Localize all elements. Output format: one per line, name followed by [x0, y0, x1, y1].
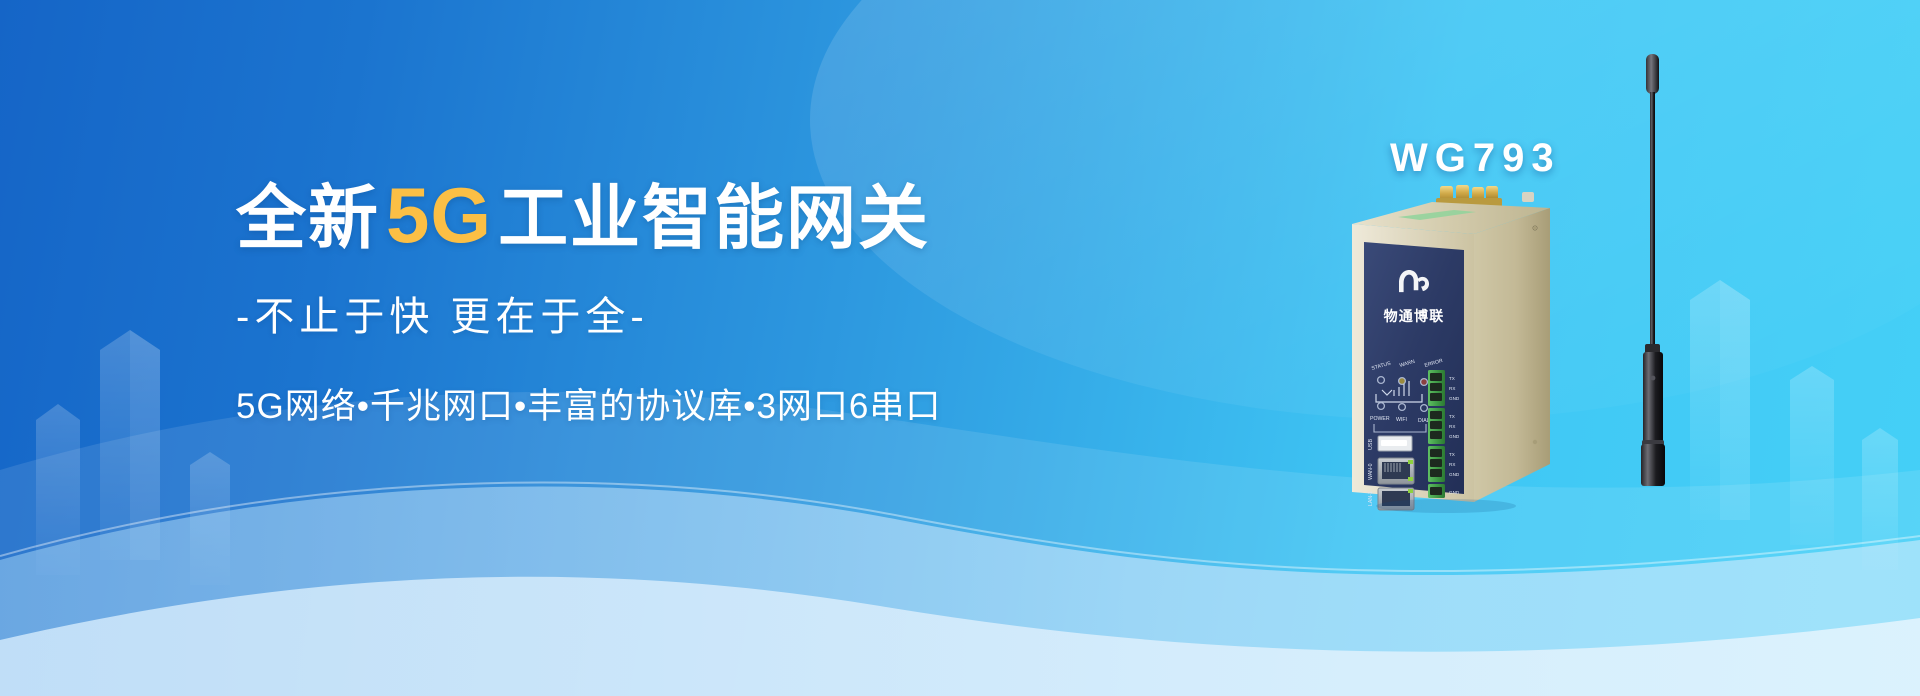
device-shadow — [1376, 499, 1516, 513]
led-label-power: POWER — [1370, 416, 1390, 422]
antenna-base-upper — [1643, 352, 1663, 444]
product-banner: 全新5G工业智能网关 -不止于快 更在于全- 5G网络•千兆网口•丰富的协议库•… — [0, 0, 1920, 696]
antenna-rod — [1650, 92, 1655, 350]
antenna-image — [1590, 48, 1730, 488]
svg-text:RX: RX — [1449, 424, 1455, 429]
wan0-led — [1408, 460, 1413, 464]
terminal-blocks — [1428, 370, 1445, 498]
tagline: -不止于快 更在于全- — [236, 284, 1066, 342]
svg-text:GND: GND — [1449, 472, 1460, 477]
product-device-image: 物通博联 STATUS WARN ERROR — [1336, 184, 1586, 514]
product-model-label: WG793 — [1390, 136, 1561, 181]
led-warn — [1399, 378, 1406, 385]
svg-text:GND: GND — [1449, 490, 1460, 495]
port-label-wan0: WAN-0 — [1368, 463, 1374, 480]
port-label-usb: USB — [1368, 439, 1374, 450]
led-label-dial: DIAL — [1418, 418, 1430, 424]
svg-text:GND: GND — [1449, 434, 1460, 439]
feature-list: 5G网络•千兆网口•丰富的协议库•3网口6串口 — [236, 378, 1066, 429]
brand-name-cn: 物通博联 — [1384, 308, 1445, 325]
svg-text:RX: RX — [1449, 462, 1455, 467]
page-title: 全新5G工业智能网关 — [236, 176, 1066, 254]
headline-prefix: 全新 — [236, 179, 380, 257]
device-side-face — [1474, 208, 1550, 502]
headline-highlight-5g: 5G — [380, 171, 498, 259]
side-screw-bottom — [1533, 440, 1537, 444]
antenna-screw — [1651, 376, 1656, 381]
led-error — [1421, 379, 1428, 386]
svg-text:TX: TX — [1449, 414, 1455, 419]
copy-block: 全新5G工业智能网关 -不止于快 更在于全- 5G网络•千兆网口•丰富的协议库•… — [236, 176, 1066, 429]
antenna-base-lower — [1641, 444, 1665, 486]
headline-suffix: 工业智能网关 — [498, 179, 930, 257]
svg-text:TX: TX — [1449, 452, 1455, 457]
lan1-led — [1408, 489, 1413, 493]
svg-text:TX: TX — [1449, 376, 1455, 381]
svg-text:RX: RX — [1449, 386, 1455, 391]
antenna-tip — [1646, 54, 1659, 94]
port-label-lan1: LAN-1 — [1368, 491, 1374, 506]
led-label-wifi: WIFI — [1396, 417, 1407, 423]
svg-text:GND: GND — [1449, 396, 1460, 401]
